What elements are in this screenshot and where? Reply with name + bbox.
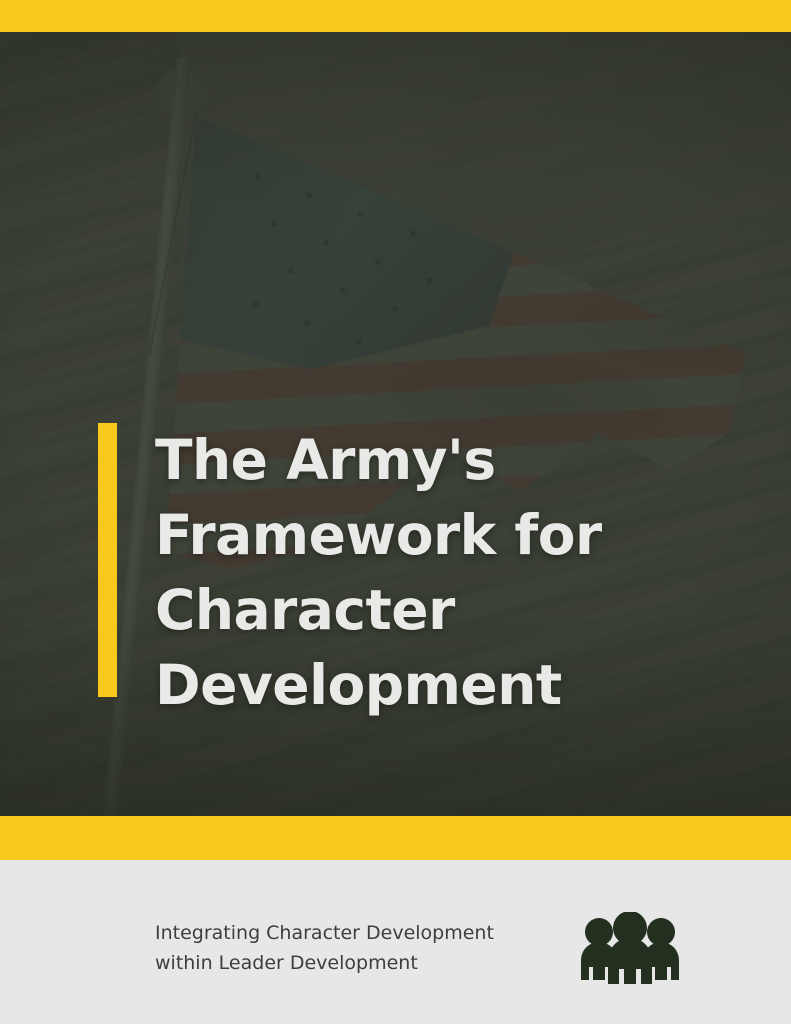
cover-footer: Integrating Character Development within… [0, 860, 791, 1024]
bottom-accent-rule [0, 816, 791, 860]
page-title: The Army's Framework for Character Devel… [155, 423, 602, 723]
document-cover-page: The Army's Framework for Character Devel… [0, 0, 791, 1024]
title-accent-bar [98, 423, 117, 697]
page-subtitle: Integrating Character Development within… [155, 918, 494, 978]
people-group-icon [577, 912, 683, 984]
top-accent-rule [0, 0, 791, 32]
cover-title-block: The Army's Framework for Character Devel… [98, 423, 602, 723]
